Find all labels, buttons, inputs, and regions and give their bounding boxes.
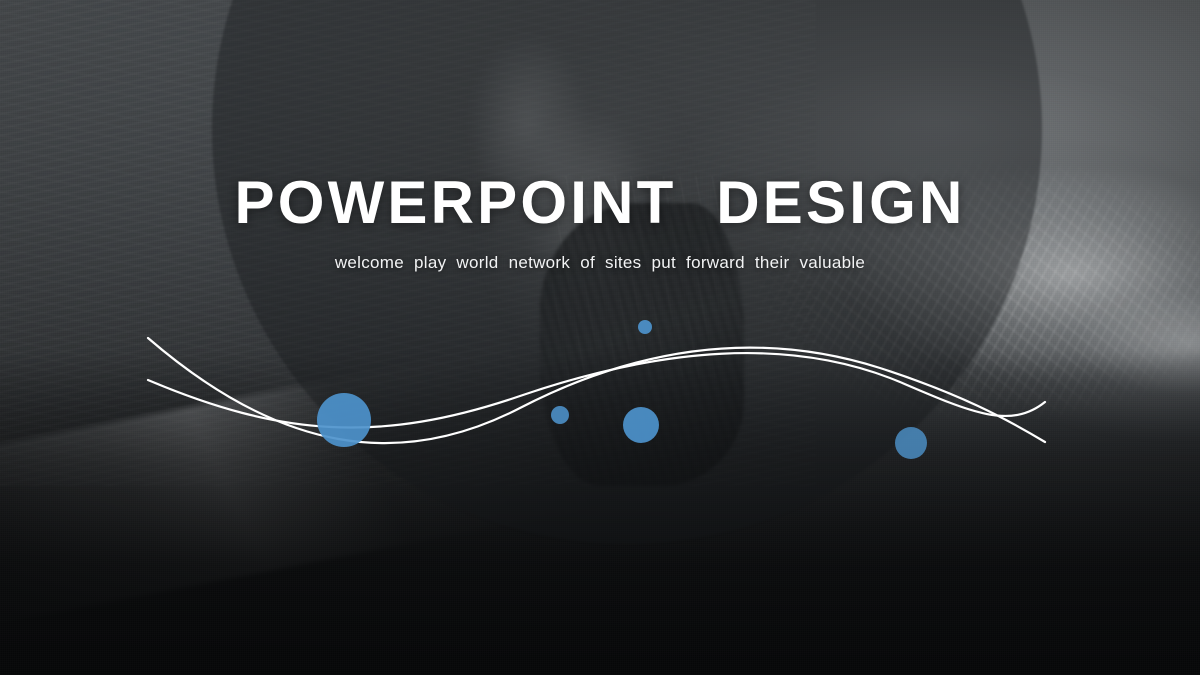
- presentation-slide: POWERPOINT DESIGN welcome play world net…: [0, 0, 1200, 675]
- title-block: POWERPOINT DESIGN welcome play world net…: [0, 172, 1200, 273]
- slide-subtitle: welcome play world network of sites put …: [0, 253, 1200, 273]
- slide-title: POWERPOINT DESIGN: [0, 172, 1200, 233]
